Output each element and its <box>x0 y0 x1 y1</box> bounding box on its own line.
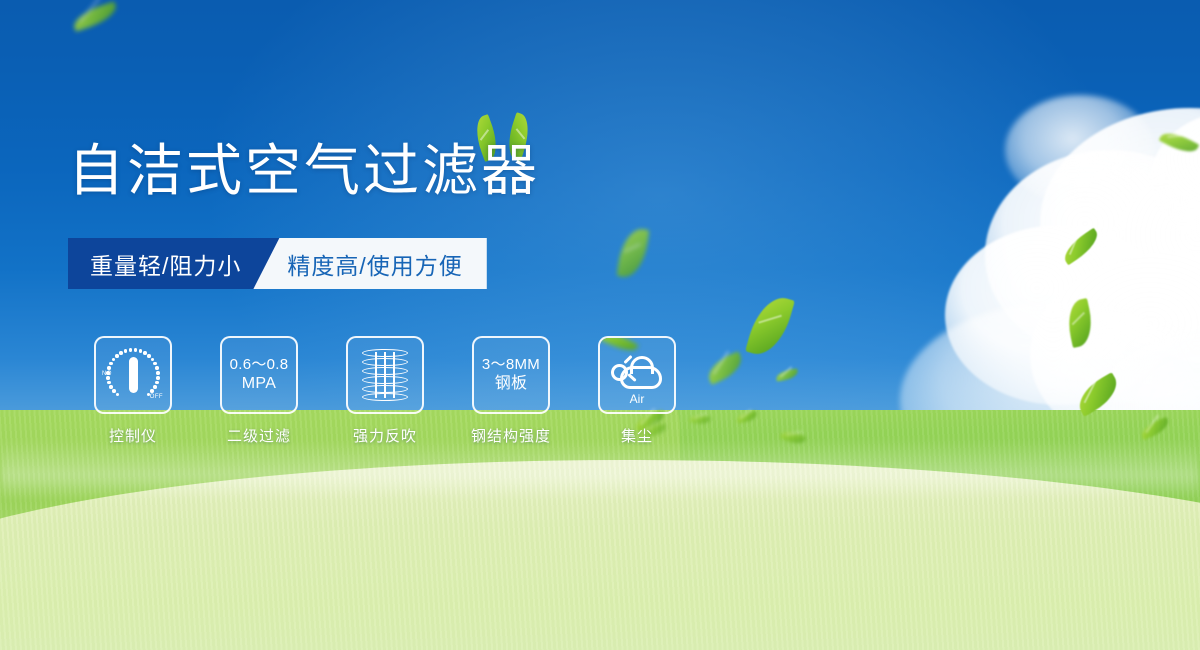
pressure-unit: MPA <box>230 374 289 394</box>
feature-item-controller[interactable]: NO OFF 控制仪 <box>70 336 196 446</box>
feature-label: 钢结构强度 <box>471 425 551 446</box>
product-banner: 自洁式空气过滤器 重量轻/阻力小 精度高/使用方便 NO OFF 控制仪 0.6… <box>0 0 1200 650</box>
dial-tick <box>143 351 147 355</box>
subtitle-left: 重量轻/阻力小 <box>68 238 279 289</box>
dial-tick <box>112 358 116 362</box>
dial-tick <box>109 362 113 366</box>
feature-label: 二级过滤 <box>227 425 291 446</box>
subtitle-bar: 重量轻/阻力小 精度高/使用方便 <box>68 238 487 289</box>
thickness-text-icon: 3～8MM 钢板 <box>482 356 540 394</box>
feature-list: NO OFF 控制仪 0.6～0.8 MPA 二级过滤 <box>70 336 700 446</box>
dial-tick <box>151 358 155 362</box>
feature-label: 强力反吹 <box>353 425 417 446</box>
thickness-range: 3～8MM <box>482 356 540 374</box>
feature-label: 集尘 <box>621 425 653 446</box>
feature-icon-box: NO OFF <box>94 336 172 414</box>
page-title: 自洁式空气过滤器 <box>68 143 540 199</box>
dial-tick <box>134 348 138 352</box>
feature-icon-box: 3～8MM 钢板 <box>472 336 550 414</box>
dial-tick <box>129 348 133 352</box>
feature-item-backblow[interactable]: 强力反吹 <box>322 336 448 446</box>
pressure-range: 0.6～0.8 <box>230 356 289 374</box>
dial-tick <box>153 385 157 389</box>
dial-tick <box>107 381 111 385</box>
dial-gauge-icon: NO OFF <box>102 344 164 406</box>
dial-off-label: OFF <box>150 394 163 400</box>
dial-tick <box>115 354 119 358</box>
dial-tick <box>155 366 159 370</box>
feature-label: 控制仪 <box>109 425 157 446</box>
dial-tick <box>107 366 111 370</box>
feature-item-filtration[interactable]: 0.6～0.8 MPA 二级过滤 <box>196 336 322 446</box>
horizon-mist <box>0 440 1200 500</box>
feature-icon-box <box>346 336 424 414</box>
dial-tick <box>106 371 110 375</box>
dial-tick <box>156 376 160 380</box>
dial-tick <box>155 381 159 385</box>
dial-tick <box>139 349 143 353</box>
dial-tick <box>150 389 154 393</box>
cloud-air-icon: Air <box>611 355 663 391</box>
cloud-air-caption: Air <box>611 392 663 406</box>
dial-tick <box>124 349 128 353</box>
pressure-text-icon: 0.6～0.8 MPA <box>230 356 289 394</box>
dial-tick <box>116 393 120 397</box>
dial-tick <box>109 385 113 389</box>
dial-tick <box>147 354 151 358</box>
dial-tick <box>156 371 160 375</box>
thickness-material: 钢板 <box>482 374 540 394</box>
coil-spring-icon <box>362 349 408 401</box>
feature-item-dust[interactable]: Air 集尘 <box>574 336 700 446</box>
feature-icon-box: 0.6～0.8 MPA <box>220 336 298 414</box>
dial-tick <box>153 362 157 366</box>
dial-tick <box>106 376 110 380</box>
dial-tick <box>112 389 116 393</box>
feature-item-steel[interactable]: 3～8MM 钢板 钢结构强度 <box>448 336 574 446</box>
subtitle-right: 精度高/使用方便 <box>253 238 486 289</box>
dial-tick <box>119 351 123 355</box>
feature-icon-box: Air <box>598 336 676 414</box>
